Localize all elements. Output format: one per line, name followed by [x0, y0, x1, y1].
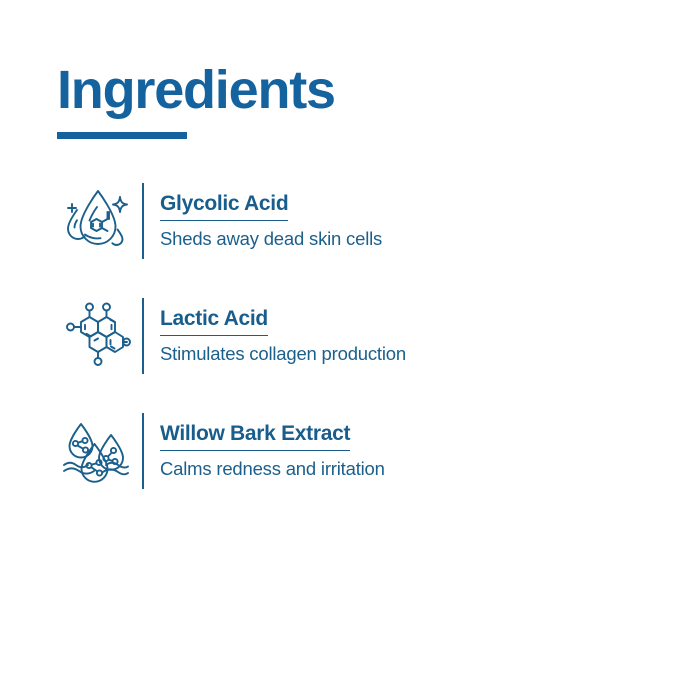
row-divider: [142, 413, 144, 489]
ingredient-name: Lactic Acid: [160, 307, 268, 336]
droplets-waves-molecule-icon: [50, 408, 142, 494]
row-divider: [142, 183, 144, 259]
ingredient-list: Glycolic Acid Sheds away dead skin cells: [50, 178, 650, 523]
droplet-molecule-sparkle-icon: [50, 178, 142, 264]
page-heading: Ingredients: [57, 62, 335, 139]
row-divider: [142, 298, 144, 374]
ingredient-description: Sheds away dead skin cells: [160, 228, 382, 250]
ingredients-panel: Ingredients: [0, 0, 700, 700]
ingredient-description: Stimulates collagen production: [160, 343, 406, 365]
list-item: Willow Bark Extract Calms redness and ir…: [50, 408, 650, 494]
title-underline-bar: [57, 132, 187, 139]
ingredient-text: Glycolic Acid Sheds away dead skin cells: [160, 192, 382, 250]
page-title: Ingredients: [57, 62, 335, 119]
ingredient-text: Willow Bark Extract Calms redness and ir…: [160, 422, 385, 480]
list-item: Glycolic Acid Sheds away dead skin cells: [50, 178, 650, 264]
list-item: Lactic Acid Stimulates collagen producti…: [50, 293, 650, 379]
ingredient-name: Willow Bark Extract: [160, 422, 350, 451]
ingredient-name: Glycolic Acid: [160, 192, 288, 221]
ingredient-description: Calms redness and irritation: [160, 458, 385, 480]
ingredient-text: Lactic Acid Stimulates collagen producti…: [160, 307, 406, 365]
molecule-rings-icon: [50, 293, 142, 379]
